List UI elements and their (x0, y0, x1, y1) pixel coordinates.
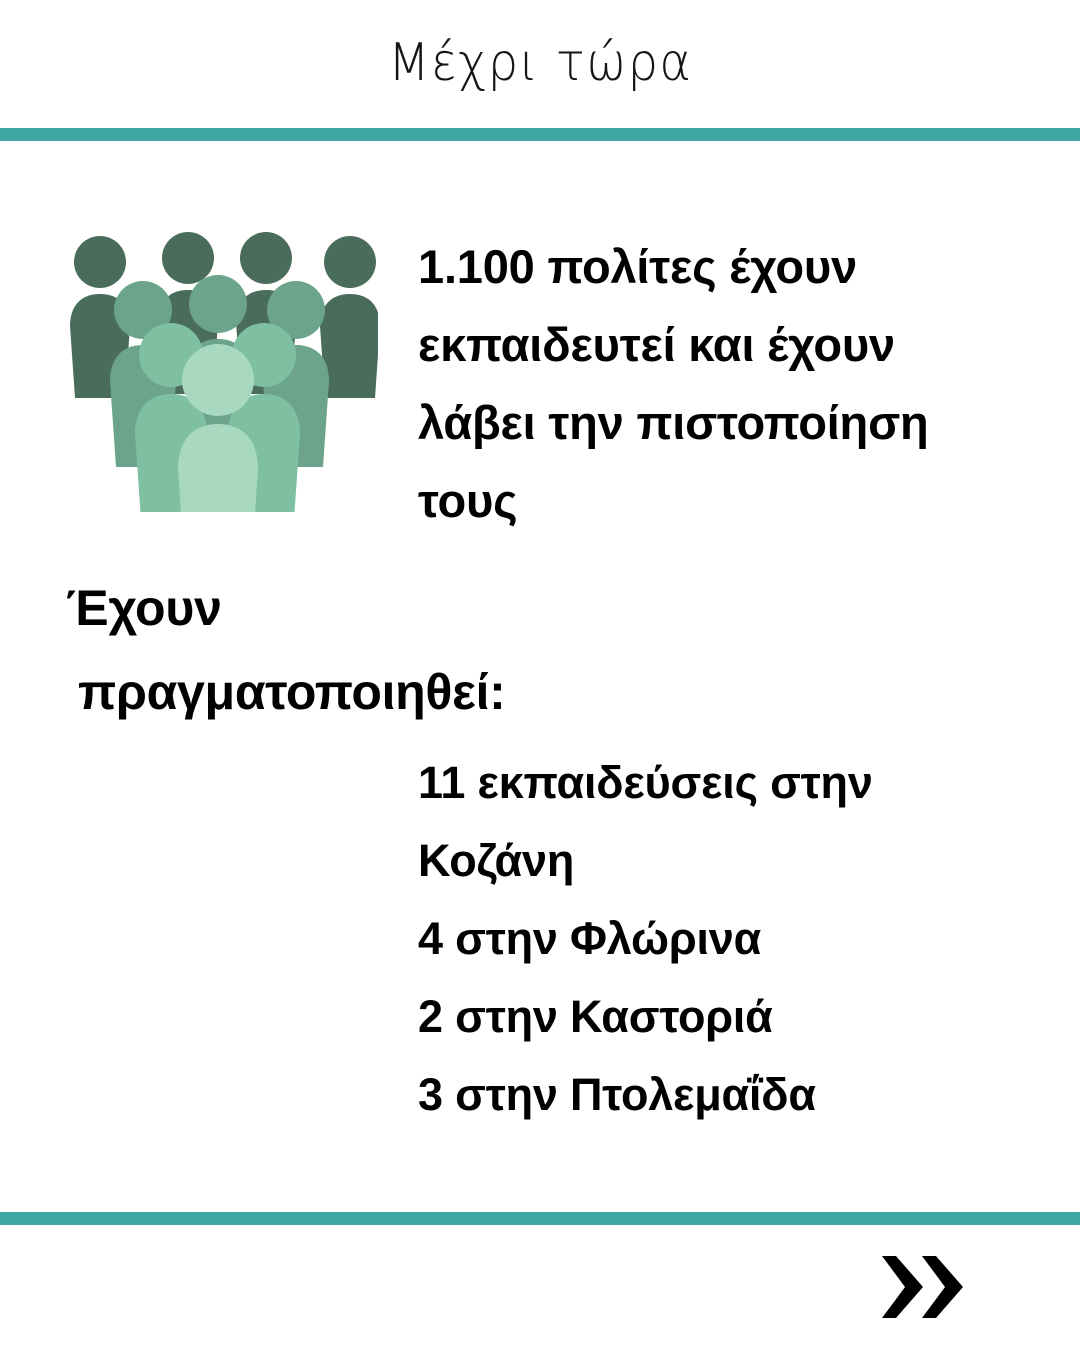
people-group-icon (58, 222, 378, 512)
header: Μέχρι τώρα (0, 0, 1080, 128)
divider-top (0, 128, 1080, 141)
completed-heading: Έχουν πραγματοποιηθεί: (66, 566, 766, 734)
footer (0, 1225, 1080, 1350)
completed-heading-line-2: πραγματοποιηθεί: (66, 650, 766, 734)
list-item: 11 εκπαιδεύσεις στην Κοζάνη (418, 744, 1038, 900)
completed-heading-line-1: Έχουν (66, 580, 222, 636)
list-item: 4 στην Φλώρινα (418, 900, 1038, 978)
divider-bottom (0, 1212, 1080, 1225)
page-title: Μέχρι τώρα (388, 35, 692, 92)
statistic-block: 1.100 πολίτες έχουν εκπαιδευτεί και έχου… (418, 228, 1018, 540)
double-chevron-right-icon[interactable] (880, 1253, 970, 1321)
infographic-slide: Μέχρι τώρα (0, 0, 1080, 1350)
statistic-text: 1.100 πολίτες έχουν εκπαιδευτεί και έχου… (418, 228, 1018, 540)
list-item: 3 στην Πτολεμαΐδα (418, 1056, 1038, 1134)
trainings-list: 11 εκπαιδεύσεις στην Κοζάνη 4 στην Φλώρι… (418, 744, 1038, 1134)
list-item: 2 στην Καστοριά (418, 978, 1038, 1056)
